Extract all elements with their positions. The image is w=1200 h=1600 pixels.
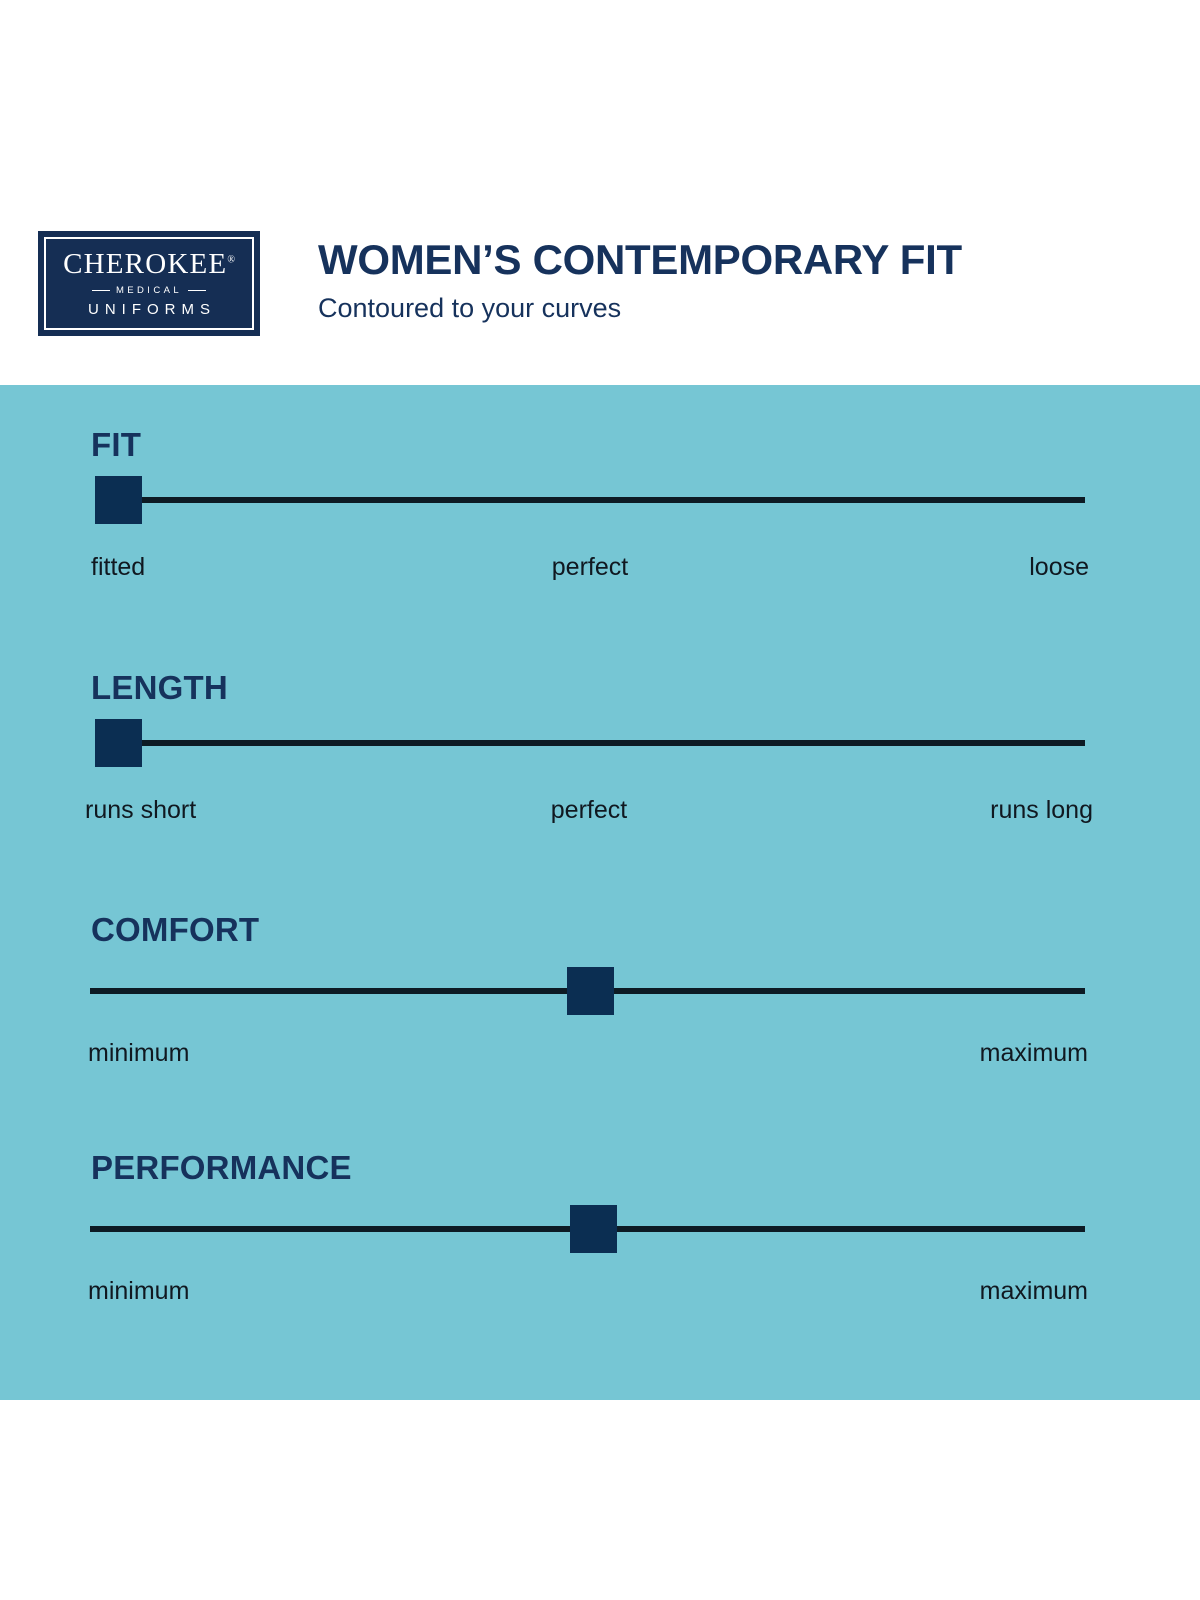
slider-label-length-left: runs short xyxy=(85,798,196,823)
ratings-panel: FIT fitted perfect loose LENGTH runs sho… xyxy=(0,385,1200,1400)
header: CHEROKEE® MEDICAL UNIFORMS WOMEN’S CONTE… xyxy=(0,0,1200,385)
slider-marker-length[interactable] xyxy=(95,719,142,767)
slider-heading-comfort: COMFORT xyxy=(91,913,259,946)
slider-track-length[interactable] xyxy=(95,740,1085,746)
slider-group-comfort: COMFORT minimum maximum xyxy=(0,871,1200,1106)
logo-brand-text: CHEROKEE xyxy=(63,248,227,280)
slider-label-length-mid: perfect xyxy=(551,798,627,823)
slider-marker-comfort[interactable] xyxy=(567,967,614,1015)
slider-label-performance-right: maximum xyxy=(980,1279,1088,1304)
page-title: WOMEN’S CONTEMPORARY FIT xyxy=(318,238,962,282)
slider-label-fit-mid: perfect xyxy=(552,555,628,580)
logo-rule-left-icon xyxy=(92,290,110,291)
logo-medical-line: MEDICAL xyxy=(92,286,206,296)
slider-group-performance: PERFORMANCE minimum maximum xyxy=(0,1109,1200,1344)
slider-heading-length: LENGTH xyxy=(91,671,228,704)
slider-track-fit[interactable] xyxy=(95,497,1085,503)
logo-frame: CHEROKEE® MEDICAL UNIFORMS xyxy=(44,237,254,330)
slider-marker-fit[interactable] xyxy=(95,476,142,524)
slider-scale-performance: minimum maximum xyxy=(88,1279,1088,1309)
slider-scale-length: runs short perfect runs long xyxy=(85,798,1093,828)
cherokee-logo: CHEROKEE® MEDICAL UNIFORMS xyxy=(38,231,260,336)
logo-uniforms-text: UNIFORMS xyxy=(82,302,216,317)
slider-group-fit: FIT fitted perfect loose xyxy=(0,385,1200,620)
slider-scale-comfort: minimum maximum xyxy=(88,1041,1088,1071)
slider-marker-performance[interactable] xyxy=(570,1205,617,1253)
logo-rule-right-icon xyxy=(188,290,206,291)
logo-brand-name: CHEROKEE® xyxy=(63,250,235,279)
fit-guide-page: CHEROKEE® MEDICAL UNIFORMS WOMEN’S CONTE… xyxy=(0,0,1200,1600)
title-block: WOMEN’S CONTEMPORARY FIT Contoured to yo… xyxy=(318,238,962,324)
slider-group-length: LENGTH runs short perfect runs long xyxy=(0,628,1200,863)
slider-heading-performance: PERFORMANCE xyxy=(91,1151,352,1184)
slider-label-comfort-right: maximum xyxy=(980,1041,1088,1066)
slider-heading-fit: FIT xyxy=(91,428,141,461)
slider-label-fit-right: loose xyxy=(1029,555,1089,580)
logo-medical-text: MEDICAL xyxy=(116,286,182,296)
slider-scale-fit: fitted perfect loose xyxy=(91,555,1089,585)
slider-label-comfort-left: minimum xyxy=(88,1041,189,1066)
slider-label-fit-left: fitted xyxy=(91,555,145,580)
slider-label-performance-left: minimum xyxy=(88,1279,189,1304)
page-subtitle: Contoured to your curves xyxy=(318,294,962,324)
slider-label-length-right: runs long xyxy=(990,798,1093,823)
registered-mark-icon: ® xyxy=(227,254,235,265)
